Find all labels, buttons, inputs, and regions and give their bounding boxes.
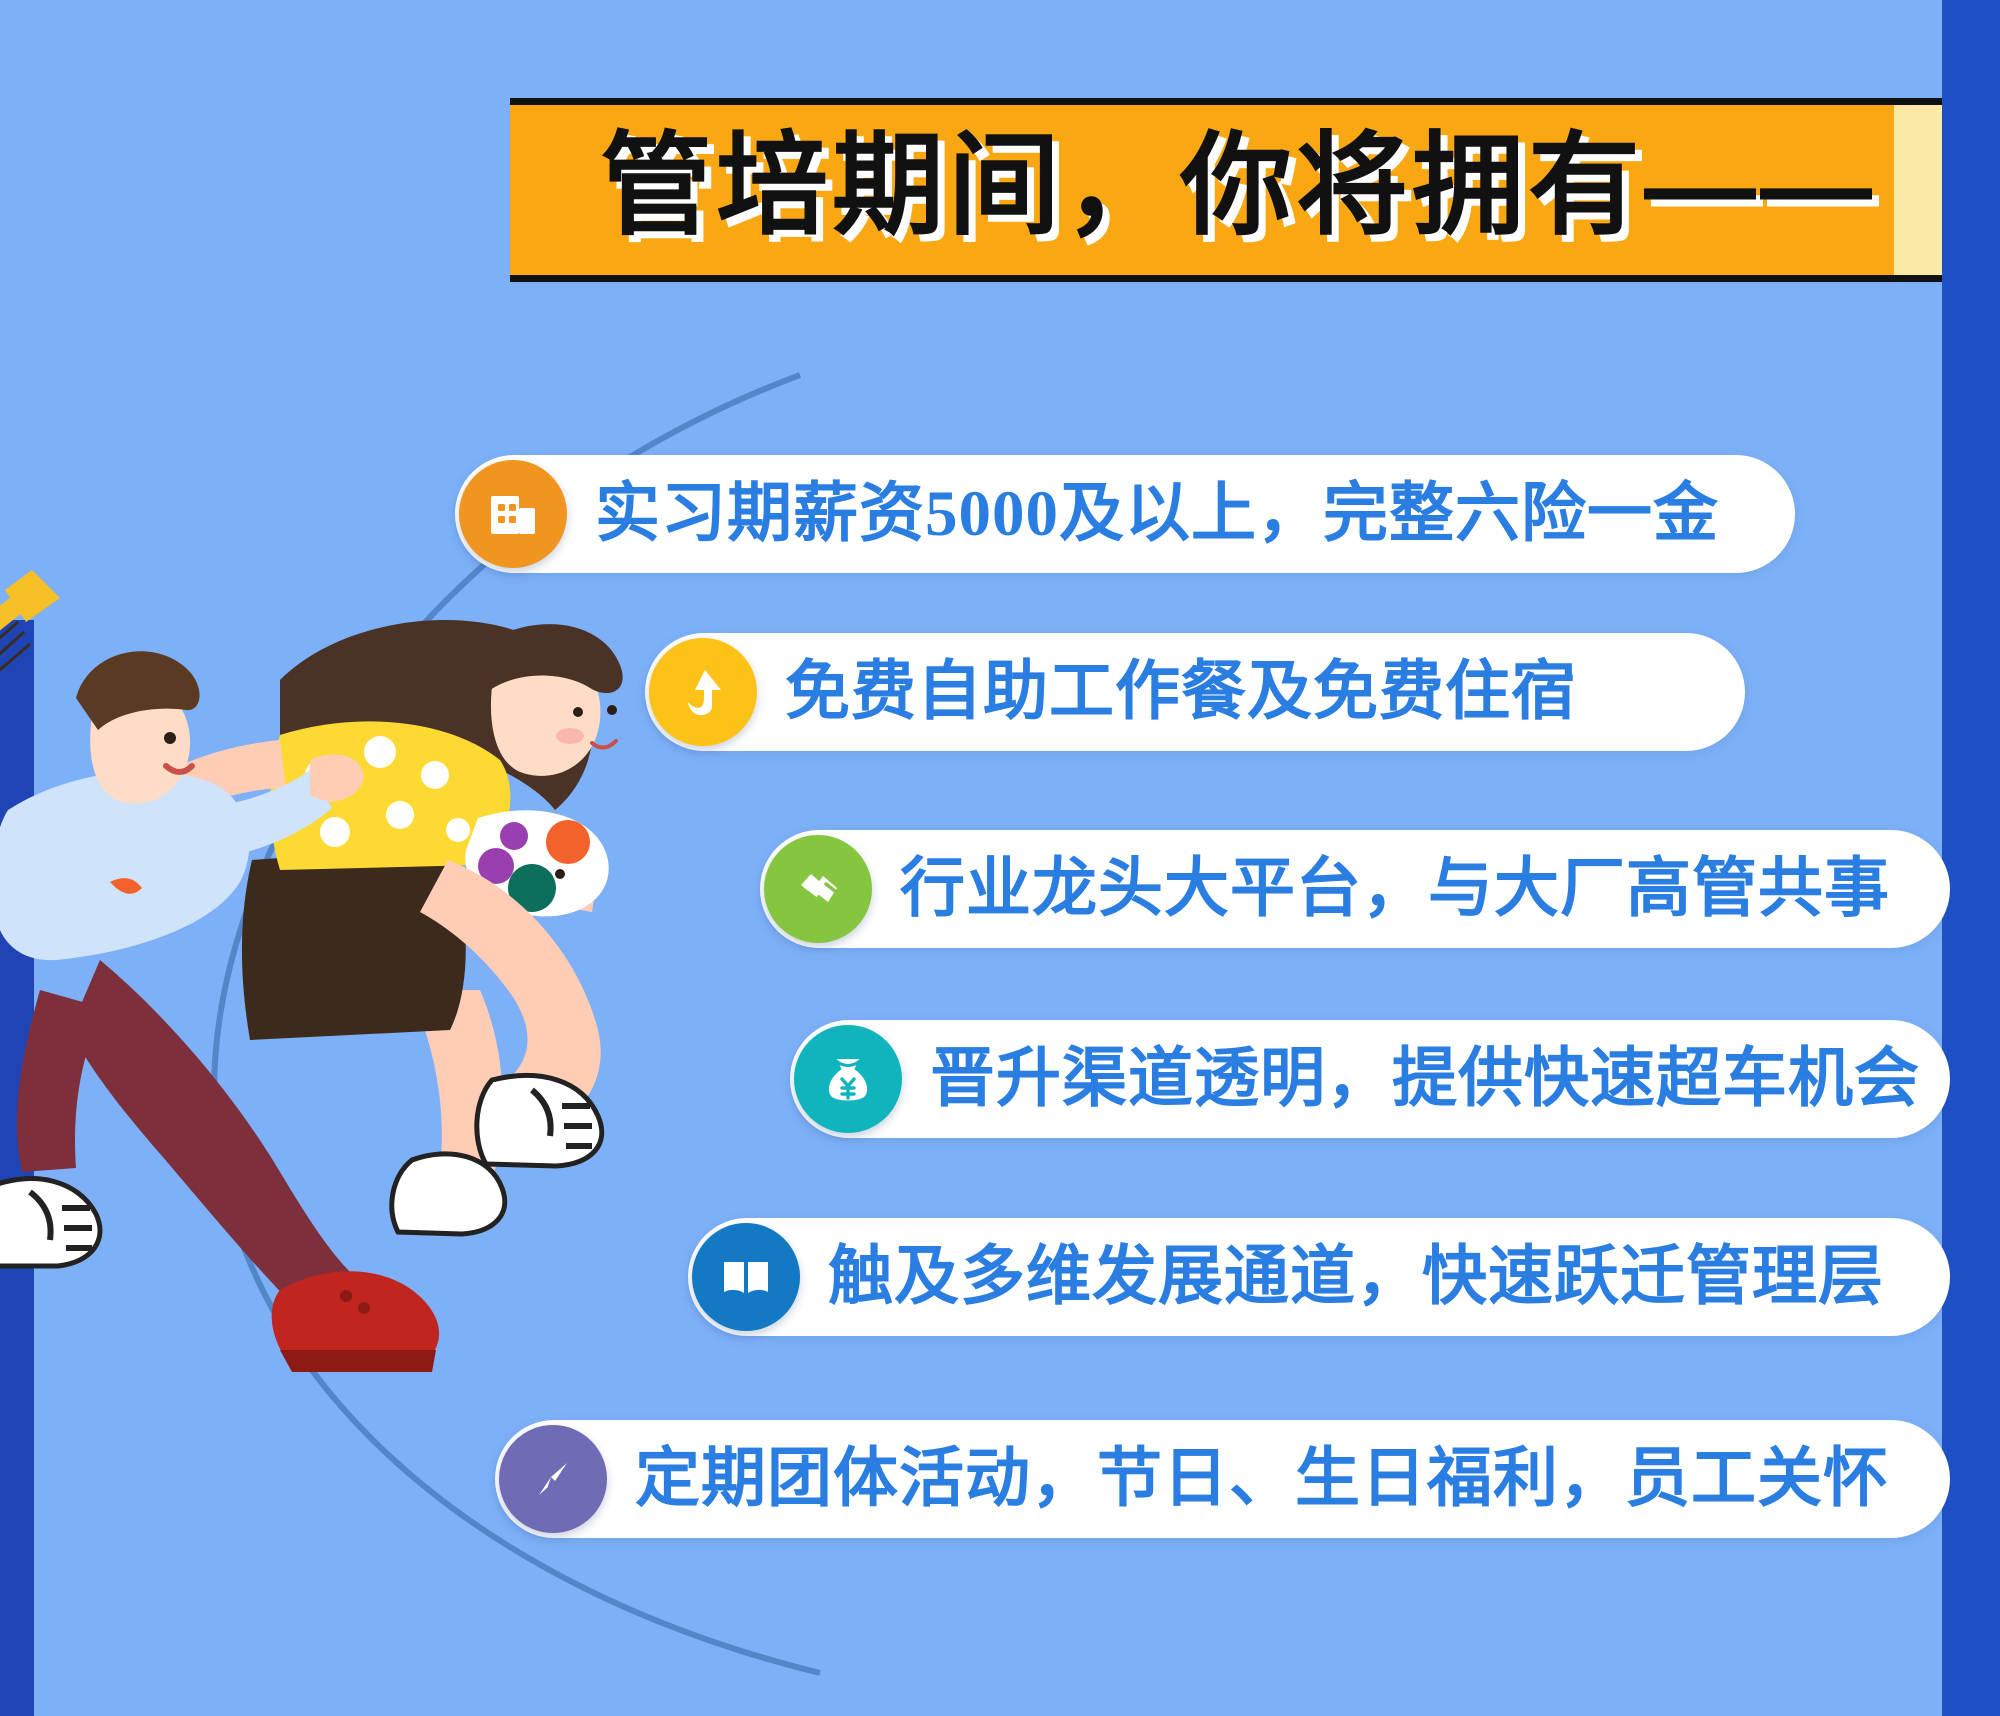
office-building-icon: [459, 460, 567, 568]
benefit-label-5: 触及多维发展通道，快速跃迁管理层: [828, 1245, 1884, 1310]
poster-root: 管培期间，你将拥有——: [0, 0, 2000, 1716]
benefit-label-1: 实习期薪资5000及以上，完整六险一金: [595, 482, 1719, 547]
benefit-label-2: 免费自助工作餐及免费住宿: [785, 660, 1577, 725]
page-title: 管培期间，你将拥有——: [576, 130, 1876, 250]
benefit-row-6[interactable]: 定期团体活动，节日、生日福利，员工关怀: [495, 1420, 1889, 1538]
benefit-row-2[interactable]: 免费自助工作餐及免费住宿: [645, 633, 1577, 751]
open-book-icon: [692, 1223, 800, 1331]
compass-needle-icon: [499, 1425, 607, 1533]
benefits-list: 实习期薪资5000及以上，完整六险一金 免费自助工作餐及免费住宿: [0, 0, 2000, 1716]
benefit-row-1[interactable]: 实习期薪资5000及以上，完整六险一金: [455, 455, 1719, 573]
benefit-label-6: 定期团体活动，节日、生日福利，员工关怀: [635, 1447, 1889, 1512]
benefit-label-4: 晋升渠道透明，提供快速超车机会: [930, 1047, 1920, 1112]
benefit-label-3: 行业龙头大平台，与大厂高管共事: [900, 857, 1890, 922]
curved-up-arrow-icon: [649, 638, 757, 746]
benefit-row-5[interactable]: 触及多维发展通道，快速跃迁管理层: [688, 1218, 1884, 1336]
handshake-icon: [764, 835, 872, 943]
benefit-row-4[interactable]: 晋升渠道透明，提供快速超车机会: [790, 1020, 1920, 1138]
money-bag-yen-icon: [794, 1025, 902, 1133]
benefit-row-3[interactable]: 行业龙头大平台，与大厂高管共事: [760, 830, 1890, 948]
